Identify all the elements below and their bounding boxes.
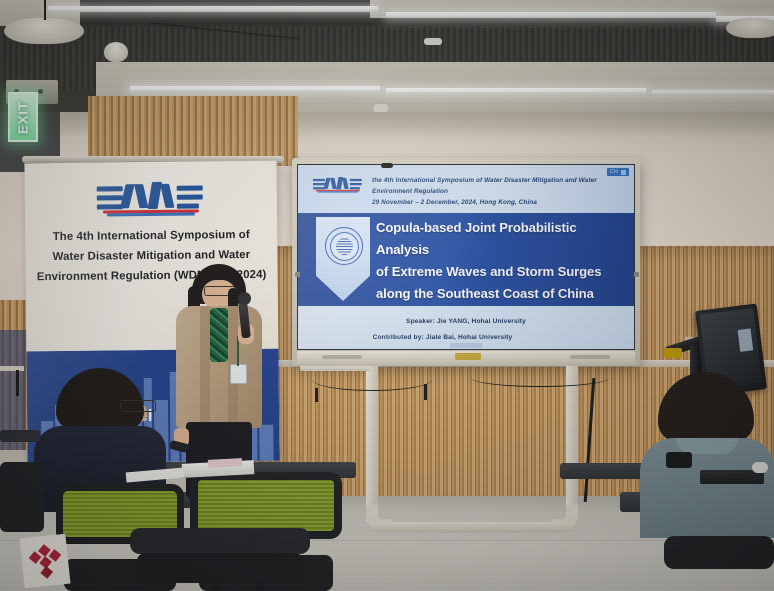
dome-pendant-lamp bbox=[104, 42, 128, 62]
swawe-logo-small bbox=[312, 177, 364, 195]
ime-status-badge[interactable]: CH bbox=[607, 168, 629, 176]
dome-pendant-lamp bbox=[726, 18, 774, 38]
attendee-hair bbox=[658, 372, 754, 442]
slide-title: Copula-based Joint Probabilistic Analysi… bbox=[376, 217, 632, 305]
display-screen[interactable]: the 4th International Symposium of Water… bbox=[297, 164, 635, 350]
display-speaker-grille bbox=[570, 355, 610, 359]
monitor-screen-content bbox=[738, 328, 754, 351]
pendant-cable bbox=[44, 0, 46, 20]
mouse[interactable] bbox=[752, 462, 768, 473]
attendee-eyeglasses bbox=[120, 400, 156, 412]
display-stand-right-post bbox=[566, 366, 578, 522]
dome-pendant-lamp bbox=[4, 18, 84, 44]
desk-microphone[interactable] bbox=[666, 452, 692, 468]
swawe-logo-mark-small bbox=[313, 177, 336, 184]
attendee-hair bbox=[56, 368, 144, 430]
chair-armrest bbox=[0, 430, 40, 442]
red-diamond-logo-bag bbox=[20, 534, 71, 589]
slide-title-line-2: of Extreme Waves and Storm Surges bbox=[376, 261, 632, 283]
chair-post bbox=[213, 577, 221, 591]
presenter-scarf-front bbox=[210, 308, 228, 362]
display-cable-drop bbox=[315, 388, 318, 402]
ceiling-sensor bbox=[424, 38, 442, 45]
exit-sign-label: EXIT bbox=[16, 95, 31, 141]
chair-backrest bbox=[664, 536, 774, 569]
slide-header-line-1: the 4th International Symposium of Water… bbox=[372, 175, 635, 197]
slide-title-line-3: along the Southeast Coast of China bbox=[376, 283, 632, 305]
linear-led-strip bbox=[386, 88, 646, 94]
interactive-flat-panel-display[interactable]: the 4th International Symposium of Water… bbox=[292, 158, 640, 366]
chair-backrest bbox=[0, 462, 44, 532]
slide-header-line-2: 29 November – 2 December, 2024, Hong Kon… bbox=[372, 197, 635, 208]
presenter-blazer-lapel bbox=[200, 306, 210, 426]
slide-credit-speaker: Speaker: Jie YANG, Hohai University bbox=[298, 314, 634, 330]
display-stand-base bbox=[372, 522, 572, 533]
linear-led-strip bbox=[130, 86, 380, 92]
banner-title-line-2: Water Disaster Mitigation and Water bbox=[35, 245, 267, 267]
display-side-button[interactable] bbox=[634, 272, 639, 277]
conference-room-photo: EXIT The 4th International Symposium of bbox=[0, 0, 774, 591]
display-camera bbox=[381, 163, 393, 168]
name-badge bbox=[230, 364, 247, 384]
ime-badge-square-icon bbox=[621, 170, 626, 175]
slide-footer-bar bbox=[450, 343, 482, 348]
seated-attendee-right bbox=[640, 372, 774, 532]
ime-badge-label: CH bbox=[610, 169, 618, 175]
linear-led-strip bbox=[386, 12, 716, 18]
microphone-head bbox=[238, 292, 251, 305]
slide-credit-contributor-1: Contributed by: Jiale Bai, Hohai Univers… bbox=[298, 330, 587, 346]
swawe-logo-mark bbox=[97, 181, 205, 216]
slide-header: the 4th International Symposium of Water… bbox=[298, 165, 634, 213]
display-cable bbox=[470, 368, 610, 387]
slide-header-text: the 4th International Symposium of Water… bbox=[372, 175, 635, 208]
slide-title-line-1: Copula-based Joint Probabilistic Analysi… bbox=[376, 217, 632, 261]
swawe-logo bbox=[25, 181, 277, 224]
hohai-university-emblem bbox=[325, 227, 363, 265]
green-mesh-office-chair[interactable] bbox=[664, 536, 774, 591]
linear-led-strip bbox=[48, 6, 378, 12]
display-cable bbox=[312, 368, 432, 391]
chair-backrest bbox=[130, 528, 310, 554]
exit-sign: EXIT bbox=[8, 92, 38, 142]
wall-cable bbox=[16, 370, 19, 396]
presentation-slide: the 4th International Symposium of Water… bbox=[298, 165, 634, 349]
linear-led-strip bbox=[652, 90, 774, 95]
green-mesh-office-chair[interactable] bbox=[130, 528, 310, 591]
wall-rail-left bbox=[0, 366, 24, 371]
banner-title-line-1: The 4th International Symposium of bbox=[35, 225, 267, 247]
display-brand-plate bbox=[455, 353, 481, 360]
display-cable-drop bbox=[424, 384, 427, 400]
display-speaker-grille bbox=[322, 355, 362, 359]
monitor-arm-hinge bbox=[664, 348, 682, 358]
display-side-button[interactable] bbox=[295, 272, 300, 277]
